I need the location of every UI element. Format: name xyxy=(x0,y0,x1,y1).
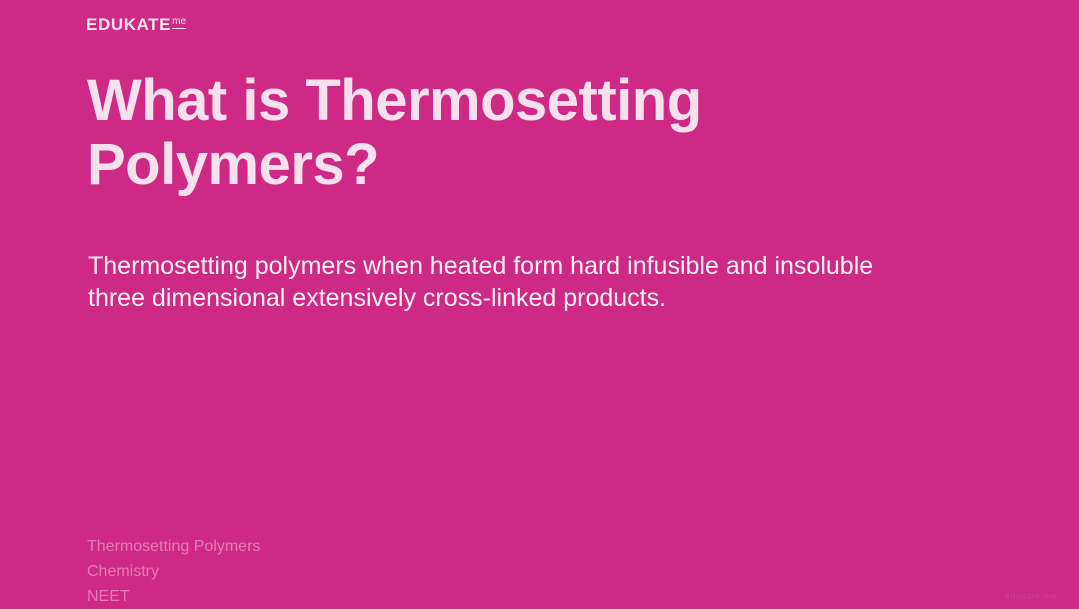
slide-title: What is Thermosetting Polymers? xyxy=(87,69,847,197)
brand-superscript-me: me xyxy=(172,17,186,29)
slide-canvas: EDUKATE me What is Thermosetting Polymer… xyxy=(0,0,1079,607)
footer-exam: NEET xyxy=(87,584,260,609)
corner-watermark: edukate.me xyxy=(1005,591,1057,601)
brand-wordmark: EDUKATE xyxy=(86,16,171,34)
body-line-2: three dimensional extensively cross-link… xyxy=(88,282,998,314)
body-line-1: Thermosetting polymers when heated form … xyxy=(88,250,998,282)
footer-subject: Chemistry xyxy=(87,559,260,584)
edukate-logo[interactable]: EDUKATE me xyxy=(86,16,186,34)
footer-topic: Thermosetting Polymers xyxy=(87,534,260,559)
footer-metadata: Thermosetting Polymers Chemistry NEET xyxy=(87,534,260,609)
slide-body-text: Thermosetting polymers when heated form … xyxy=(88,250,998,314)
